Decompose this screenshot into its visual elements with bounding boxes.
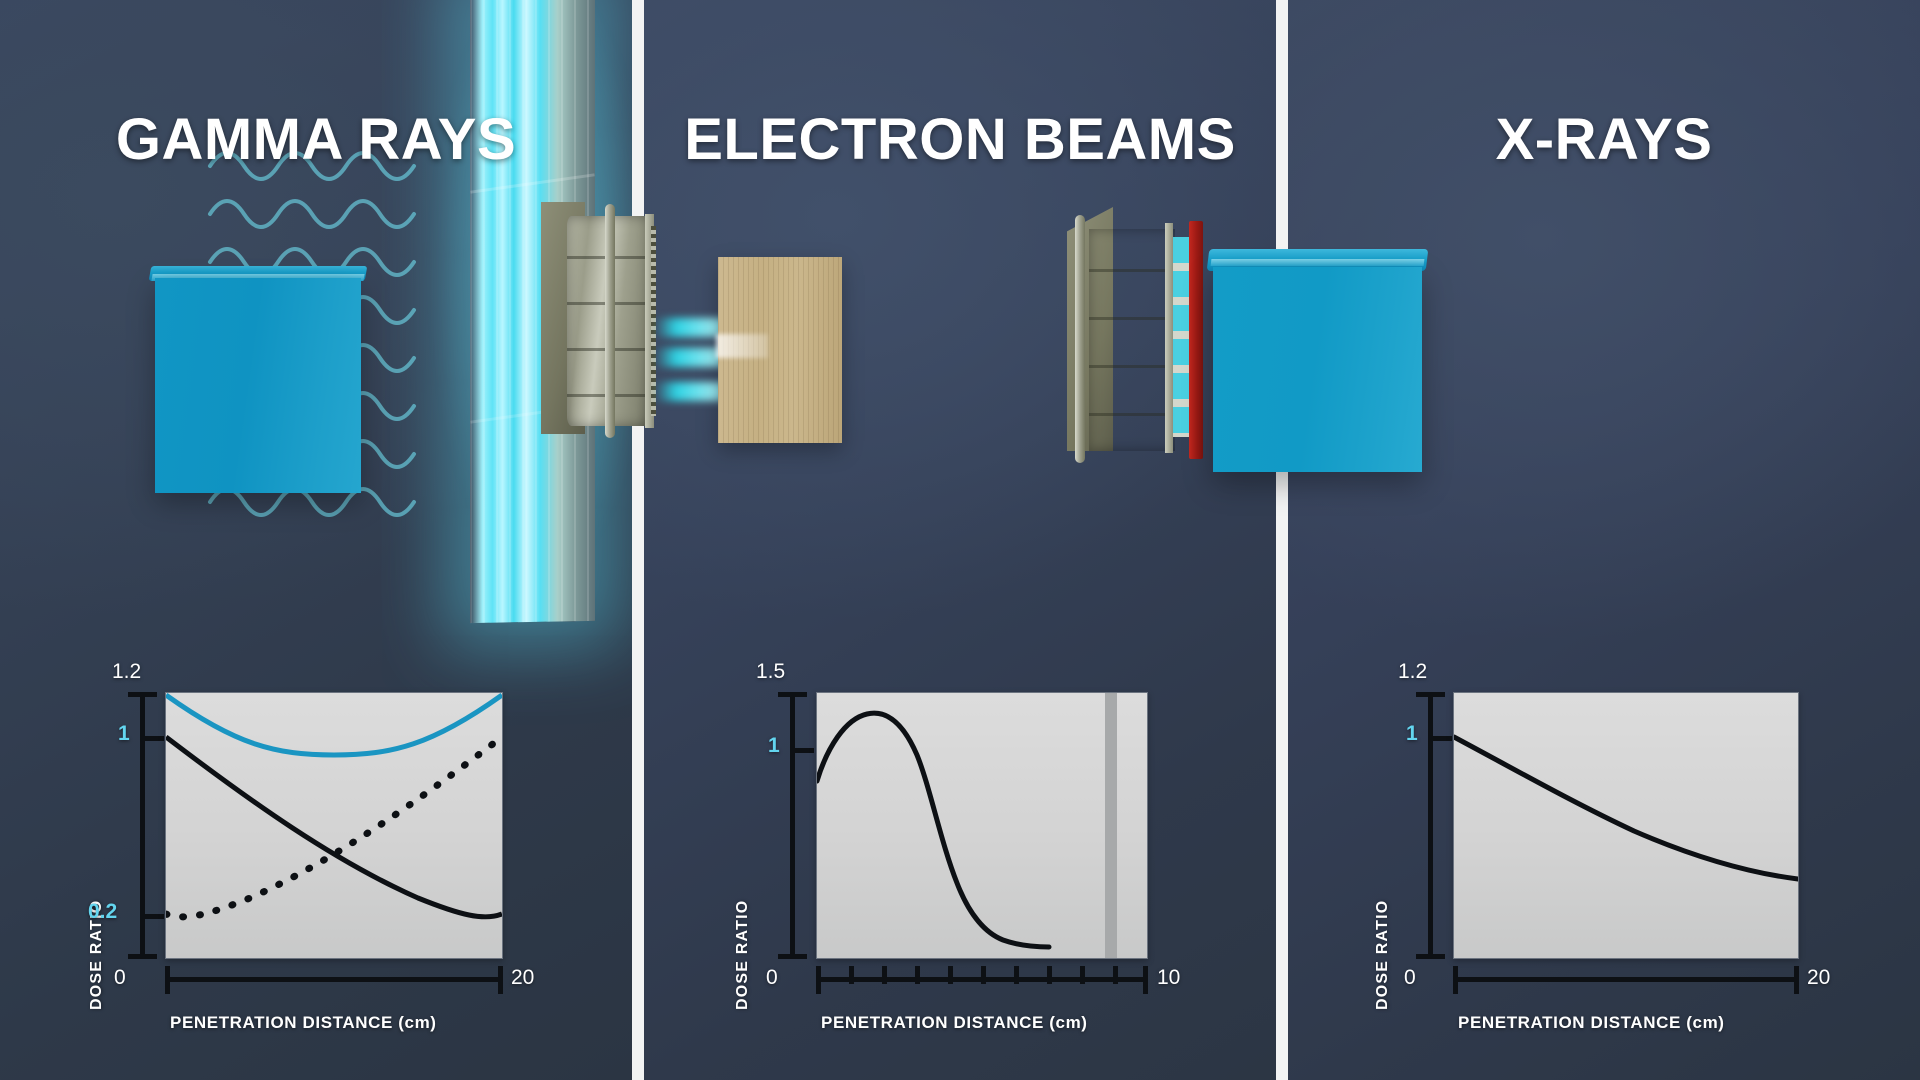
xray-accelerator-rib-2 xyxy=(1089,317,1175,320)
chart-electron-beams-plot: DOSE RATIO 1.5 1 0 10 PENETRATION DISTAN… xyxy=(644,660,1276,1080)
panel-gamma-rays: GAMMA RAYS DOSE RATIO 1.2 1 0.2 xyxy=(0,0,632,1080)
chart-gamma-ytick-1p2 xyxy=(128,692,157,697)
chart-electron-xtick-label-0: 0 xyxy=(766,966,778,990)
xray-accelerator-barrel xyxy=(1089,229,1175,451)
chart-xray-ytick-label-1: 1 xyxy=(1406,722,1418,746)
chart-xray-xlabel: PENETRATION DISTANCE (cm) xyxy=(1458,1013,1725,1033)
chart-electron-xtick-5 xyxy=(981,966,986,984)
series-exit-dose-dotted xyxy=(166,737,502,917)
chart-electron-ytick-0 xyxy=(778,954,807,959)
xray-accelerator-assembly xyxy=(1073,207,1203,469)
chart-gamma-xlabel: PENETRATION DISTANCE (cm) xyxy=(170,1013,437,1033)
panel-divider-2 xyxy=(1276,0,1288,1080)
series-total-dose-blue xyxy=(166,695,502,755)
chart-xray-ytick-1p2 xyxy=(1416,692,1445,697)
chart-xray-series-svg xyxy=(1454,693,1798,958)
chart-xray-xtick-20 xyxy=(1794,966,1799,994)
chart-gamma-xtick-label-20: 20 xyxy=(511,966,534,990)
chart-electron-xlabel: PENETRATION DISTANCE (cm) xyxy=(821,1013,1088,1033)
xray-product-tote-lid-rim xyxy=(1211,259,1425,266)
panel-title-electron: ELECTRON BEAMS xyxy=(644,106,1276,173)
chart-xray-xtick-0 xyxy=(1453,966,1458,994)
series-attenuation xyxy=(1454,737,1798,879)
chart-gamma-ytick-0p2 xyxy=(140,914,164,919)
chart-gamma-ytick-0 xyxy=(128,954,157,959)
chart-gamma-rays: DOSE RATIO 1.2 1 0.2 xyxy=(0,660,632,1080)
carton-beam-hotspot xyxy=(716,334,768,358)
chart-xrays-plot: DOSE RATIO 1.2 1 0 20 PENETRATION DISTAN… xyxy=(1288,660,1920,1080)
xray-accelerator-spine xyxy=(1075,215,1085,463)
accelerator-spine xyxy=(605,204,615,438)
panel-title-xray: X-RAYS xyxy=(1288,106,1920,173)
chart-electron-xtick-8 xyxy=(1080,966,1085,984)
chart-electron-xtick-2 xyxy=(882,966,887,984)
chart-xray-yaxis xyxy=(1428,692,1433,959)
chart-gamma-series-svg xyxy=(166,693,502,958)
chart-gamma-ytick-label-1p2: 1.2 xyxy=(112,660,141,684)
chart-electron-plot-area xyxy=(816,692,1148,959)
chart-xray-xaxis xyxy=(1453,977,1799,982)
chart-xray-ytick-1 xyxy=(1428,736,1452,741)
xray-accelerator-front-bar xyxy=(1165,223,1173,453)
series-entrance-dose-solid xyxy=(166,737,502,917)
chart-xray-ytick-0 xyxy=(1416,954,1445,959)
panel-divider-1 xyxy=(632,0,644,1080)
chart-electron-series-svg xyxy=(817,693,1147,958)
panel-title-gamma: GAMMA RAYS xyxy=(0,106,632,173)
chart-gamma-xtick-20 xyxy=(498,966,503,994)
chart-electron-yaxis xyxy=(790,692,795,959)
chart-electron-xtick-6 xyxy=(1014,966,1019,984)
chart-electron-xtick-9 xyxy=(1113,966,1118,984)
chart-electron-ytick-label-1p5: 1.5 xyxy=(756,660,785,684)
chart-gamma-ytick-label-1: 1 xyxy=(118,722,130,746)
chart-xray-xtick-label-20: 20 xyxy=(1807,966,1830,990)
chart-gamma-xaxis xyxy=(165,977,503,982)
chart-electron-ytick-label-1: 1 xyxy=(768,734,780,758)
series-depth-dose xyxy=(817,713,1049,947)
chart-electron-ylabel: DOSE RATIO xyxy=(734,900,752,1010)
chart-electron-xtick-10 xyxy=(1143,966,1148,994)
infographic-stage: GAMMA RAYS DOSE RATIO 1.2 1 0.2 xyxy=(0,0,1920,1080)
xray-accelerator-rib-3 xyxy=(1089,365,1175,368)
chart-gamma-plot-area xyxy=(165,692,503,959)
chart-electron-xtick-0 xyxy=(816,966,821,994)
chart-electron-xtick-3 xyxy=(915,966,920,984)
product-tote-body xyxy=(155,278,361,493)
cardboard-carton xyxy=(718,257,842,443)
chart-xray-ylabel: DOSE RATIO xyxy=(1374,900,1392,1010)
xray-accelerator-rib-1 xyxy=(1089,269,1175,272)
xray-accelerator-rib-4 xyxy=(1089,413,1175,416)
chart-gamma-ytick-label-0p2: 0.2 xyxy=(88,900,117,924)
chart-electron-xtick-label-10: 10 xyxy=(1157,966,1180,990)
chart-electron-xtick-7 xyxy=(1047,966,1052,984)
xray-product-tote-body xyxy=(1213,267,1422,472)
chart-electron-ytick-1 xyxy=(790,748,814,753)
chart-electron-ytick-1p5 xyxy=(778,692,807,697)
chart-electron-xtick-4 xyxy=(948,966,953,984)
chart-xray-ytick-label-1p2: 1.2 xyxy=(1398,660,1427,684)
chart-electron-xtick-1 xyxy=(849,966,854,984)
chart-xray-plot-area xyxy=(1453,692,1799,959)
chart-gamma-xtick-label-0: 0 xyxy=(114,966,126,990)
chart-xray-xtick-label-0: 0 xyxy=(1404,966,1416,990)
chart-gamma-xtick-0 xyxy=(165,966,170,994)
chart-gamma-ytick-1 xyxy=(140,736,164,741)
tantalum-converter-plate xyxy=(1189,221,1203,459)
